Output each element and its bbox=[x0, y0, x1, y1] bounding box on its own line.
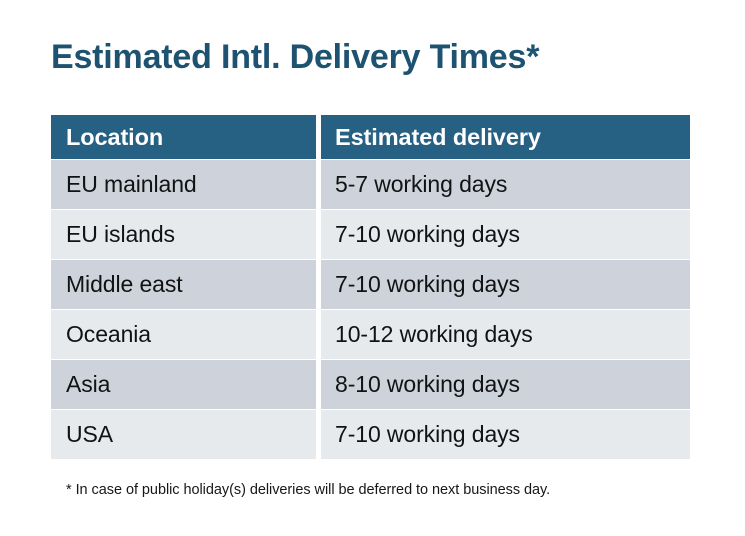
cell-estimated-delivery: 7-10 working days bbox=[321, 210, 690, 259]
table-row: EU islands 7-10 working days bbox=[51, 210, 690, 259]
column-header-estimated-delivery: Estimated delivery bbox=[321, 115, 690, 159]
cell-location: EU mainland bbox=[51, 160, 316, 209]
table-row: Asia 8-10 working days bbox=[51, 360, 690, 409]
cell-estimated-delivery: 8-10 working days bbox=[321, 360, 690, 409]
cell-estimated-delivery: 7-10 working days bbox=[321, 410, 690, 459]
table-header-row: Location Estimated delivery bbox=[51, 115, 690, 159]
cell-estimated-delivery: 5-7 working days bbox=[321, 160, 690, 209]
cell-location: EU islands bbox=[51, 210, 316, 259]
table-row: Middle east 7-10 working days bbox=[51, 260, 690, 309]
delivery-times-table: Location Estimated delivery EU mainland … bbox=[51, 115, 690, 459]
footnote-text: * In case of public holiday(s) deliverie… bbox=[66, 480, 726, 500]
cell-location: Asia bbox=[51, 360, 316, 409]
cell-estimated-delivery: 10-12 working days bbox=[321, 310, 690, 359]
cell-location: Oceania bbox=[51, 310, 316, 359]
page-title: Estimated Intl. Delivery Times* bbox=[51, 36, 711, 78]
cell-location: Middle east bbox=[51, 260, 316, 309]
delivery-times-page: Estimated Intl. Delivery Times* Location… bbox=[0, 0, 745, 536]
column-header-location: Location bbox=[51, 115, 316, 159]
cell-location: USA bbox=[51, 410, 316, 459]
cell-estimated-delivery: 7-10 working days bbox=[321, 260, 690, 309]
table-row: USA 7-10 working days bbox=[51, 410, 690, 459]
table-row: EU mainland 5-7 working days bbox=[51, 160, 690, 209]
table-row: Oceania 10-12 working days bbox=[51, 310, 690, 359]
